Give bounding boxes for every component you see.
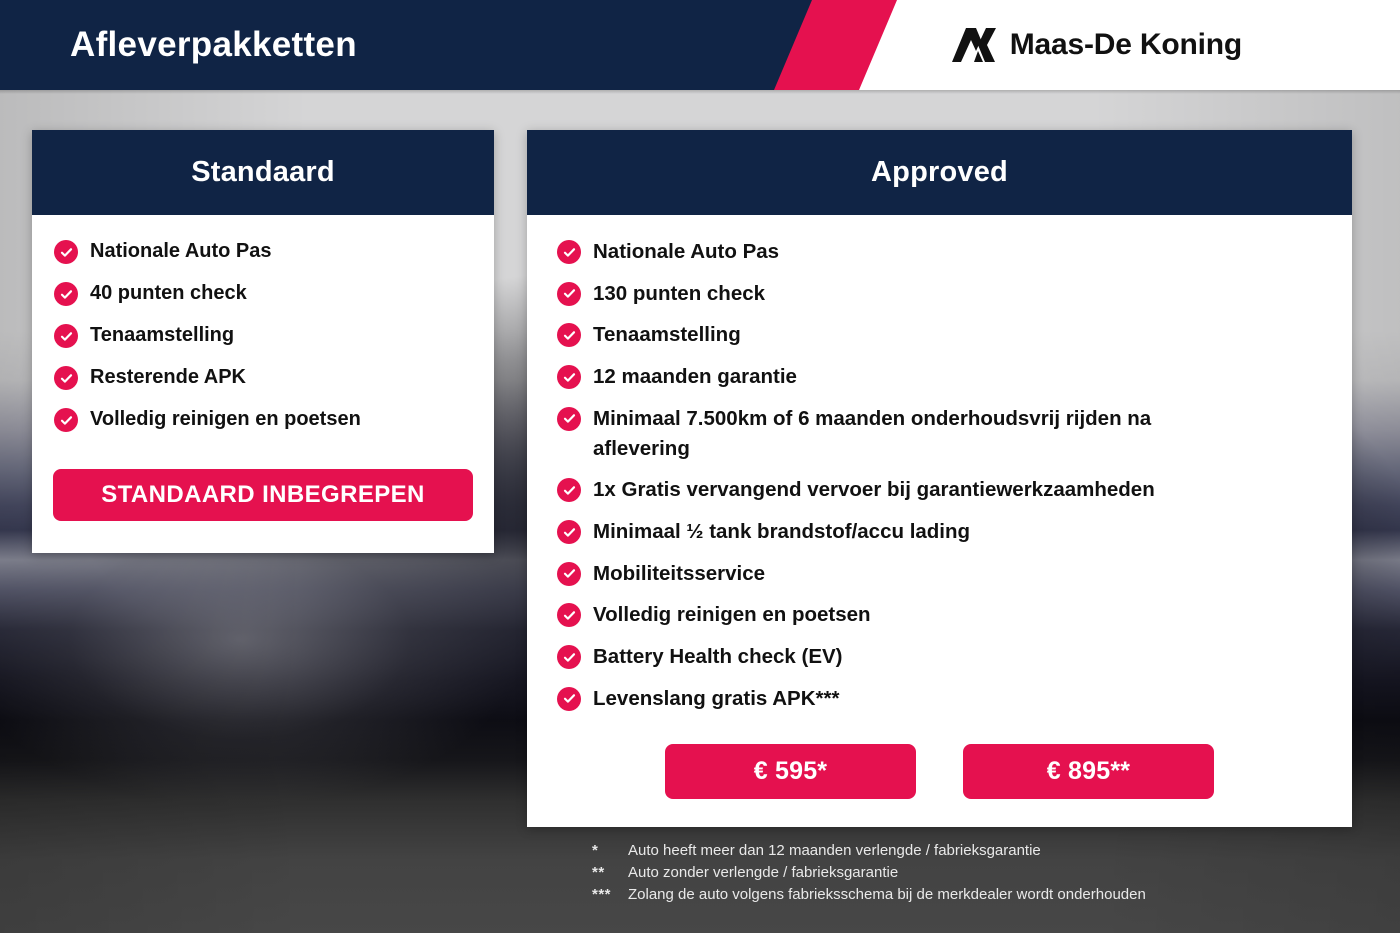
feature-label: 1x Gratis vervangend vervoer bij garanti…	[593, 475, 1155, 505]
footnote-marker: **	[592, 862, 628, 884]
check-circle-icon	[54, 366, 78, 390]
price-button-595[interactable]: € 595*	[665, 744, 916, 799]
check-circle-icon	[557, 407, 581, 431]
list-item: 130 punten check	[527, 279, 1352, 309]
feature-list-approved: Nationale Auto Pas 130 punten check Tena…	[527, 237, 1352, 714]
feature-label: 130 punten check	[593, 279, 765, 309]
list-item: Resterende APK	[32, 363, 494, 392]
list-item: Volledig reinigen en poetsen	[527, 600, 1352, 630]
package-card-approved: Approved Nationale Auto Pas 130 punten c…	[527, 130, 1352, 827]
feature-label: Mobiliteitsservice	[593, 559, 765, 589]
list-item: Tenaamstelling	[32, 321, 494, 350]
list-item: Battery Health check (EV)	[527, 642, 1352, 672]
check-circle-icon	[557, 687, 581, 711]
card-title-standaard: Standaard	[191, 156, 335, 189]
page-title: Afleverpakketten	[70, 0, 357, 90]
list-item: Minimaal 7.500km of 6 maanden onderhouds…	[527, 404, 1352, 463]
card-header-standaard: Standaard	[32, 130, 494, 215]
check-circle-icon	[557, 240, 581, 264]
feature-label: Minimaal 7.500km of 6 maanden onderhouds…	[593, 404, 1253, 463]
check-circle-icon	[557, 282, 581, 306]
footnote-text: Auto zonder verlengde / fabrieksgarantie	[628, 862, 898, 884]
check-circle-icon	[54, 324, 78, 348]
feature-label: 40 punten check	[90, 279, 247, 308]
feature-label: Battery Health check (EV)	[593, 642, 843, 672]
feature-label: Tenaamstelling	[90, 321, 234, 350]
feature-label: Resterende APK	[90, 363, 246, 392]
feature-label: Minimaal ½ tank brandstof/accu lading	[593, 517, 970, 547]
footnote-list: * Auto heeft meer dan 12 maanden verleng…	[592, 840, 1146, 905]
check-circle-icon	[557, 645, 581, 669]
header-shadow	[0, 90, 1400, 94]
footnote-row: ** Auto zonder verlengde / fabrieksgaran…	[592, 862, 1146, 884]
list-item: Nationale Auto Pas	[32, 237, 494, 266]
list-item: 1x Gratis vervangend vervoer bij garanti…	[527, 475, 1352, 505]
brand-name: Maas-De Koning	[1010, 28, 1242, 62]
feature-label: Tenaamstelling	[593, 320, 741, 350]
list-item: 40 punten check	[32, 279, 494, 308]
feature-label: Levenslang gratis APK***	[593, 684, 839, 714]
price-button-895[interactable]: € 895**	[963, 744, 1214, 799]
check-circle-icon	[557, 365, 581, 389]
list-item: Levenslang gratis APK***	[527, 684, 1352, 714]
footnote-text: Auto heeft meer dan 12 maanden verlengde…	[628, 840, 1041, 862]
check-circle-icon	[557, 323, 581, 347]
check-circle-icon	[557, 520, 581, 544]
standaard-inbegrepen-button[interactable]: STANDAARD INBEGREPEN	[53, 469, 473, 521]
check-circle-icon	[54, 240, 78, 264]
price-button-row: € 595* € 895**	[527, 744, 1352, 805]
page-header: Afleverpakketten Maas-De Koning	[0, 0, 1400, 90]
package-card-standaard: Standaard Nationale Auto Pas 40 punten c…	[32, 130, 494, 553]
footnote-marker: *	[592, 840, 628, 862]
list-item: Nationale Auto Pas	[527, 237, 1352, 267]
feature-label: Volledig reinigen en poetsen	[90, 405, 361, 434]
feature-label: Nationale Auto Pas	[90, 237, 272, 266]
check-circle-icon	[557, 603, 581, 627]
list-item: Minimaal ½ tank brandstof/accu lading	[527, 517, 1352, 547]
feature-label: Volledig reinigen en poetsen	[593, 600, 871, 630]
feature-label: 12 maanden garantie	[593, 362, 797, 392]
check-circle-icon	[557, 478, 581, 502]
check-circle-icon	[54, 408, 78, 432]
maas-de-koning-logo-icon	[952, 27, 996, 63]
feature-label: Nationale Auto Pas	[593, 237, 779, 267]
footnote-text: Zolang de auto volgens fabrieksschema bi…	[628, 884, 1146, 906]
check-circle-icon	[557, 562, 581, 586]
card-header-approved: Approved	[527, 130, 1352, 215]
list-item: Volledig reinigen en poetsen	[32, 405, 494, 434]
list-item: Mobiliteitsservice	[527, 559, 1352, 589]
page-root: Afleverpakketten Maas-De Koning Standaar…	[0, 0, 1400, 933]
card-body-standaard: Nationale Auto Pas 40 punten check Tenaa…	[32, 215, 494, 553]
card-title-approved: Approved	[871, 156, 1008, 189]
footnote-row: * Auto heeft meer dan 12 maanden verleng…	[592, 840, 1146, 862]
check-circle-icon	[54, 282, 78, 306]
brand-lockup: Maas-De Koning	[952, 0, 1242, 90]
list-item: Tenaamstelling	[527, 320, 1352, 350]
feature-list-standaard: Nationale Auto Pas 40 punten check Tenaa…	[32, 237, 494, 434]
card-body-approved: Nationale Auto Pas 130 punten check Tena…	[527, 215, 1352, 827]
list-item: 12 maanden garantie	[527, 362, 1352, 392]
footnote-marker: ***	[592, 884, 628, 906]
footnote-row: *** Zolang de auto volgens fabrieksschem…	[592, 884, 1146, 906]
